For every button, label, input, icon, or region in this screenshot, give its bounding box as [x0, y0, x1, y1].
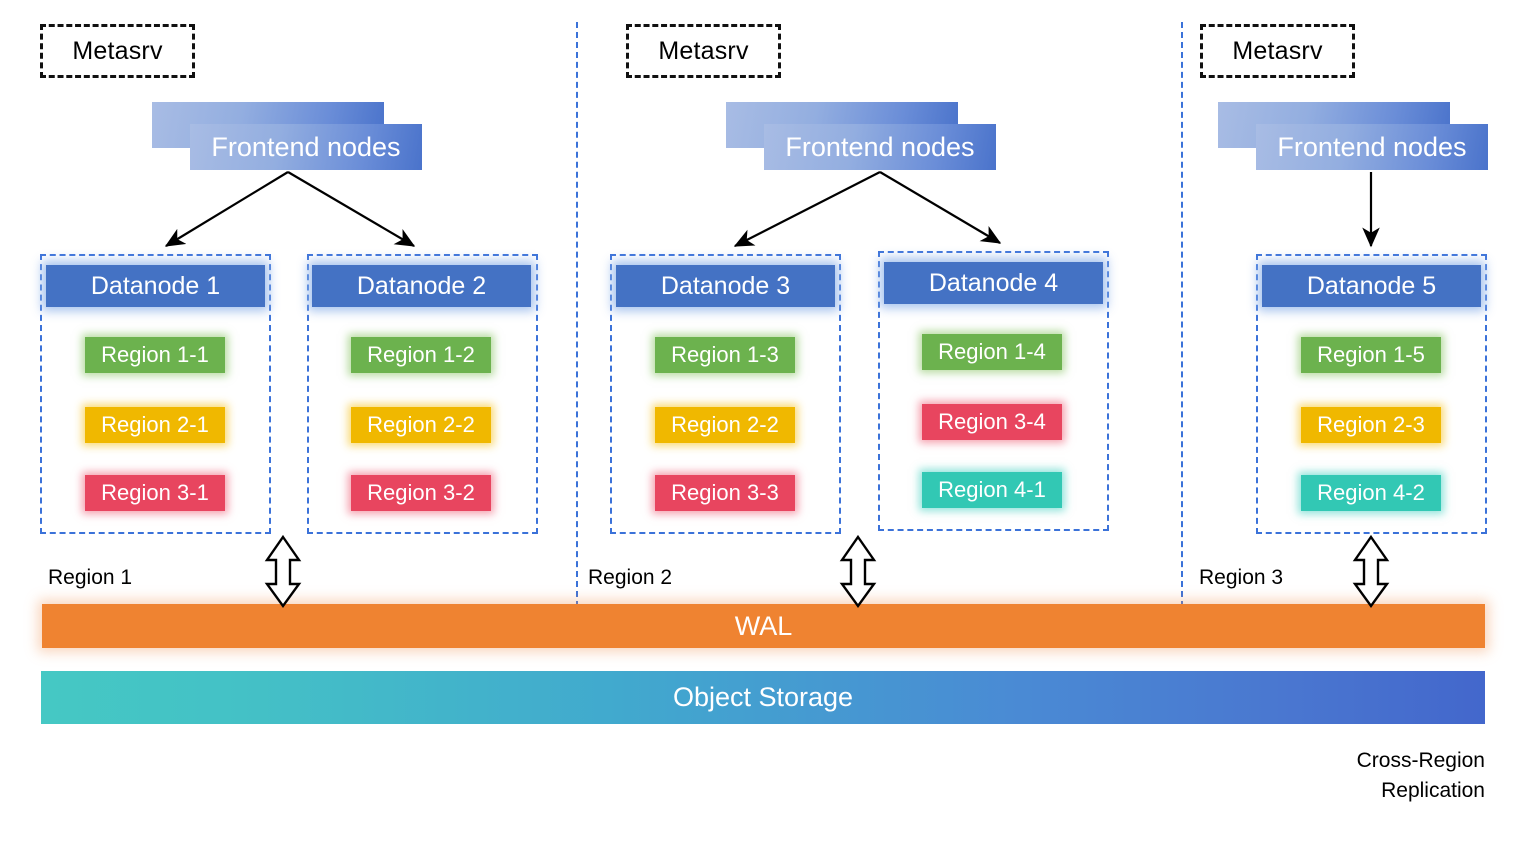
- region-chip-1-2[interactable]: Region 1-2: [351, 337, 491, 373]
- region-chip-1-1[interactable]: Region 1-1: [85, 337, 225, 373]
- region-chip-label: Region 2-1: [101, 412, 209, 438]
- frontend-nodes-region-2[interactable]: Frontend nodes: [726, 102, 996, 170]
- region-chip-label: Region 1-5: [1317, 342, 1425, 368]
- datanode-title: Datanode 5: [1307, 272, 1436, 301]
- region-chip-label: Region 3-2: [367, 480, 475, 506]
- object-storage-bar[interactable]: Object Storage: [41, 671, 1485, 724]
- wal-label: WAL: [735, 611, 793, 642]
- frontend-nodes-region-3[interactable]: Frontend nodes: [1218, 102, 1488, 170]
- object-storage-label: Object Storage: [673, 682, 853, 713]
- arrow-frontend-to-datanode-4: [880, 172, 1000, 243]
- region-caption-3: Region 3: [1199, 566, 1283, 590]
- region-chip-3-2[interactable]: Region 3-2: [351, 475, 491, 511]
- metasrv-box-region-2[interactable]: Metasrv: [626, 24, 781, 78]
- datanode-header-2[interactable]: Datanode 2: [312, 265, 531, 307]
- bidirectional-arrow-region-1-wal: [267, 537, 299, 606]
- arrow-frontend-to-datanode-3: [735, 172, 880, 246]
- region-chip-label: Region 1-4: [938, 339, 1046, 365]
- bidirectional-arrow-region-3-wal: [1355, 537, 1387, 606]
- datanode-title: Datanode 2: [357, 272, 486, 301]
- datanode-header-4[interactable]: Datanode 4: [884, 262, 1103, 304]
- datanode-title: Datanode 4: [929, 269, 1058, 298]
- region-caption-1: Region 1: [48, 566, 132, 590]
- region-caption-text: Region 3: [1199, 566, 1283, 589]
- architecture-diagram: Metasrv Frontend nodes Datanode 1 Region…: [0, 0, 1514, 842]
- cross-region-line-1: Cross-Region: [1240, 746, 1485, 776]
- datanode-header-1[interactable]: Datanode 1: [46, 265, 265, 307]
- region-caption-2: Region 2: [588, 566, 672, 590]
- metasrv-label: Metasrv: [658, 37, 748, 66]
- region-chip-3-1[interactable]: Region 3-1: [85, 475, 225, 511]
- region-chip-label: Region 2-3: [1317, 412, 1425, 438]
- region-chip-label: Region 1-1: [101, 342, 209, 368]
- region-chip-3-3[interactable]: Region 3-3: [655, 475, 795, 511]
- metasrv-box-region-1[interactable]: Metasrv: [40, 24, 195, 78]
- datanode-title: Datanode 1: [91, 272, 220, 301]
- region-chip-2-2[interactable]: Region 2-2: [351, 407, 491, 443]
- cross-region-replication-note: Cross-Region Replication: [1240, 746, 1485, 806]
- region-chip-label: Region 3-4: [938, 409, 1046, 435]
- region-caption-text: Region 1: [48, 566, 132, 589]
- wal-bar[interactable]: WAL: [42, 604, 1485, 648]
- bidirectional-arrow-region-2-wal: [842, 537, 874, 606]
- frontend-stack-front: Frontend nodes: [190, 124, 422, 170]
- cross-region-line-2: Replication: [1240, 776, 1485, 806]
- region-caption-text: Region 2: [588, 566, 672, 589]
- region-chip-label: Region 3-3: [671, 480, 779, 506]
- datanode-header-5[interactable]: Datanode 5: [1262, 265, 1481, 307]
- arrow-frontend-to-datanode-1: [166, 172, 288, 246]
- frontend-stack-front: Frontend nodes: [1256, 124, 1488, 170]
- frontend-nodes-label: Frontend nodes: [1277, 132, 1466, 163]
- region-chip-label: Region 3-1: [101, 480, 209, 506]
- metasrv-label: Metasrv: [1232, 37, 1322, 66]
- region-chip-label: Region 4-1: [938, 477, 1046, 503]
- region-chip-1-5[interactable]: Region 1-5: [1301, 337, 1441, 373]
- frontend-nodes-label: Frontend nodes: [211, 132, 400, 163]
- datanode-title: Datanode 3: [661, 272, 790, 301]
- frontend-stack-front: Frontend nodes: [764, 124, 996, 170]
- region-separator-2: [1181, 22, 1183, 607]
- region-chip-1-4[interactable]: Region 1-4: [922, 334, 1062, 370]
- region-chip-label: Region 1-2: [367, 342, 475, 368]
- region-chip-1-3[interactable]: Region 1-3: [655, 337, 795, 373]
- datanode-header-3[interactable]: Datanode 3: [616, 265, 835, 307]
- region-chip-label: Region 4-2: [1317, 480, 1425, 506]
- region-chip-2-2-dn3[interactable]: Region 2-2: [655, 407, 795, 443]
- region-chip-2-1[interactable]: Region 2-1: [85, 407, 225, 443]
- metasrv-label: Metasrv: [72, 37, 162, 66]
- metasrv-box-region-3[interactable]: Metasrv: [1200, 24, 1355, 78]
- arrow-frontend-to-datanode-2: [288, 172, 414, 246]
- region-chip-4-2[interactable]: Region 4-2: [1301, 475, 1441, 511]
- region-chip-label: Region 2-2: [367, 412, 475, 438]
- frontend-nodes-region-1[interactable]: Frontend nodes: [152, 102, 422, 170]
- region-chip-label: Region 2-2: [671, 412, 779, 438]
- region-chip-label: Region 1-3: [671, 342, 779, 368]
- frontend-nodes-label: Frontend nodes: [785, 132, 974, 163]
- region-chip-3-4[interactable]: Region 3-4: [922, 404, 1062, 440]
- region-separator-1: [576, 22, 578, 607]
- region-chip-2-3[interactable]: Region 2-3: [1301, 407, 1441, 443]
- region-chip-4-1[interactable]: Region 4-1: [922, 472, 1062, 508]
